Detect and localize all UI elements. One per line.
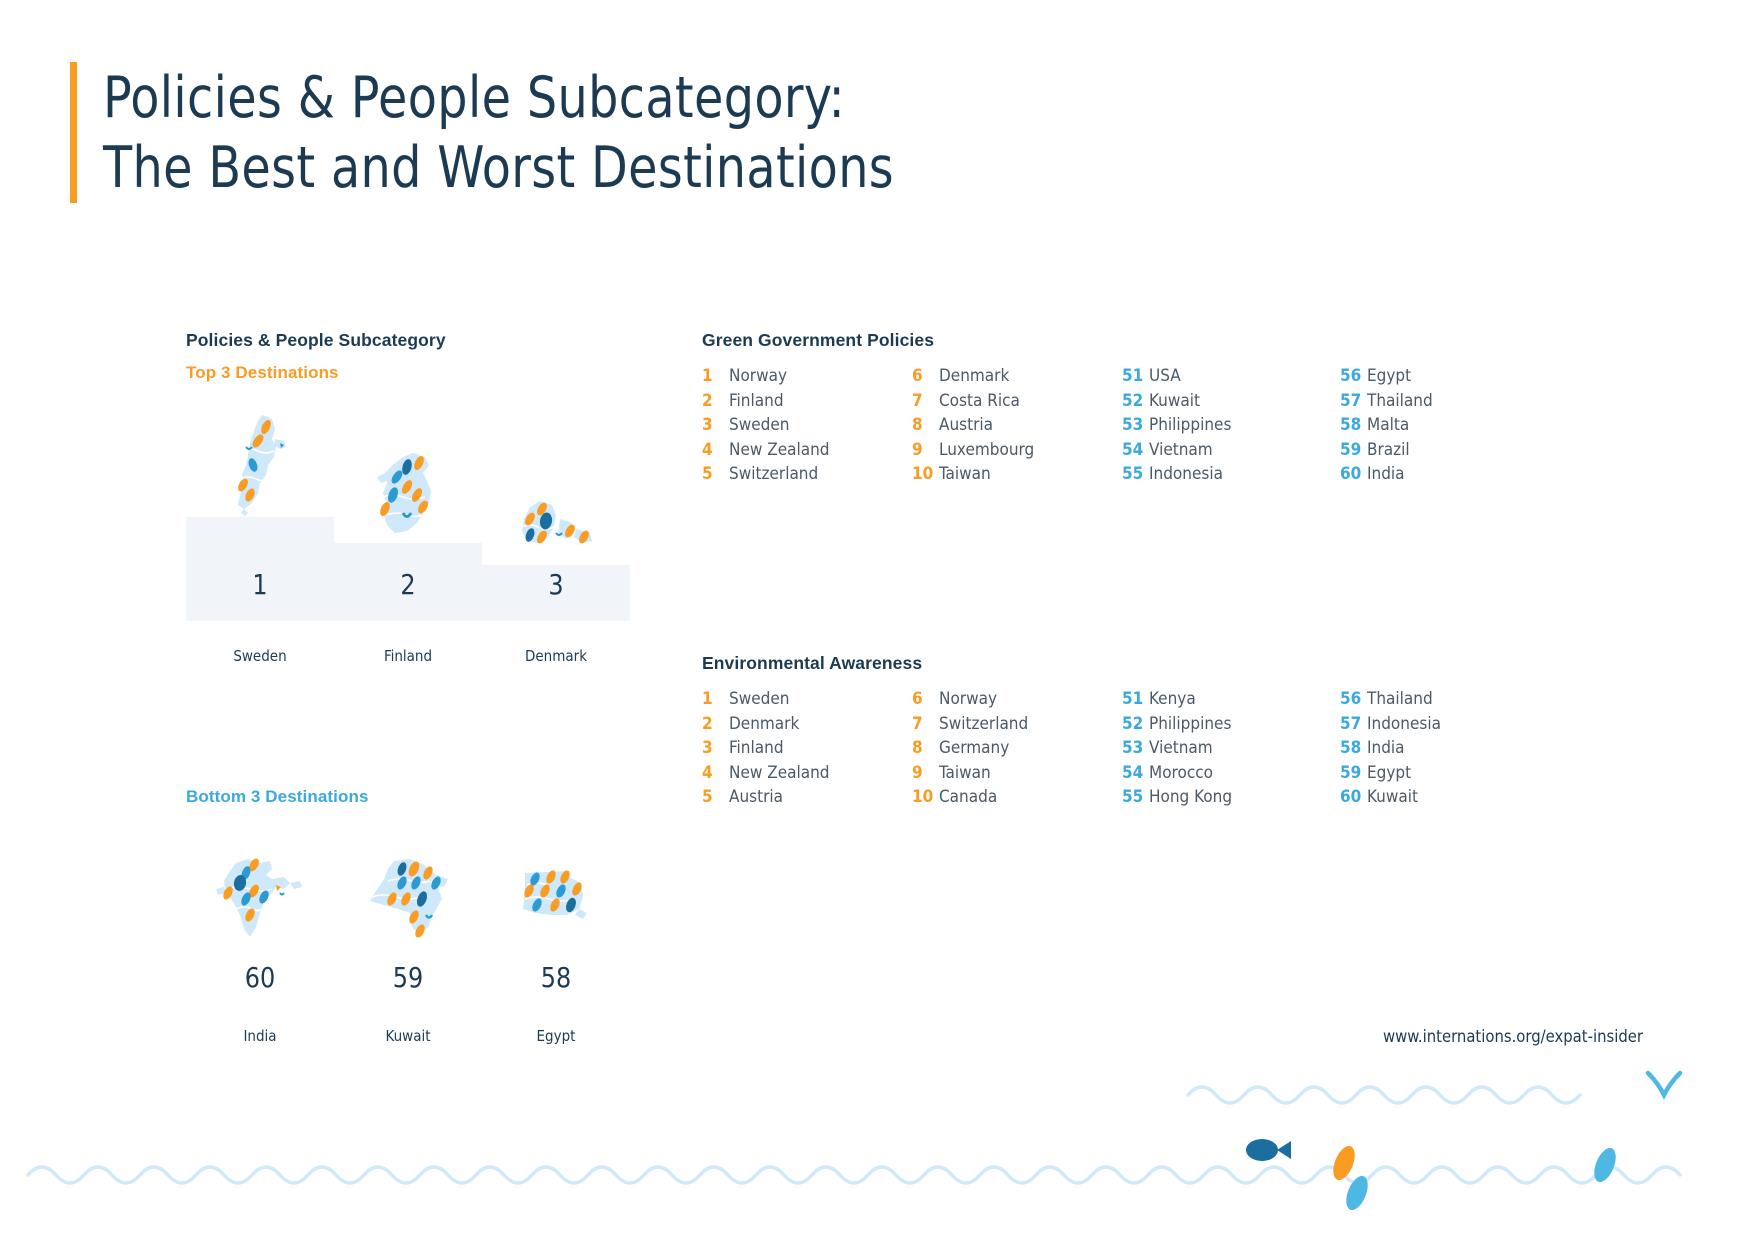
- bottom-country-2: Kuwait: [334, 1027, 482, 1045]
- rank-row: 59Brazil: [1340, 440, 1550, 465]
- rank-row: 5Switzerland: [702, 464, 912, 489]
- rank-number: 5: [702, 787, 729, 807]
- rank-row: 10Taiwan: [912, 464, 1122, 489]
- rank-number: 55: [1122, 464, 1149, 484]
- rank-number: 58: [1340, 738, 1367, 758]
- rank-number: 6: [912, 366, 939, 386]
- kuwait-map-icon: [334, 849, 482, 949]
- rank-country: Denmark: [939, 366, 1009, 386]
- rank-number: 53: [1122, 738, 1149, 758]
- rank-country: India: [1367, 464, 1405, 484]
- podium-step-2: 2: [334, 543, 482, 621]
- india-map-icon: [186, 849, 334, 949]
- rank-country: Philippines: [1149, 415, 1231, 435]
- rank-number: 51: [1122, 689, 1149, 709]
- podium-rank-2: 2: [400, 568, 415, 621]
- rank-number: 10: [912, 787, 939, 807]
- rank-country: Denmark: [729, 714, 799, 734]
- rank-row: 2Finland: [702, 391, 912, 416]
- rank-row: 6Norway: [912, 689, 1122, 714]
- rank-country: New Zealand: [729, 763, 830, 783]
- rank-number: 5: [702, 464, 729, 484]
- rank-country: Austria: [939, 415, 993, 435]
- rank-country: Brazil: [1367, 440, 1410, 460]
- rank-number: 6: [912, 689, 939, 709]
- rank-row: 56Egypt: [1340, 366, 1550, 391]
- rank-row: 3Sweden: [702, 415, 912, 440]
- rank-country: Austria: [729, 787, 783, 807]
- podium-rank-1: 1: [252, 568, 267, 621]
- top-3-podium: 1 2 3 Sweden Finland Denmark: [186, 409, 636, 699]
- wave-line: [28, 1167, 1680, 1183]
- ranking-column-bottom-b: 56Egypt 57Thailand 58Malta 59Brazil 60In…: [1340, 366, 1550, 489]
- rank-number: 57: [1340, 714, 1367, 734]
- rank-country: Sweden: [729, 689, 789, 709]
- rank-country: Hong Kong: [1149, 787, 1232, 807]
- sweden-map-icon: [205, 405, 315, 517]
- rank-country: Philippines: [1149, 714, 1231, 734]
- rank-number: 3: [702, 415, 729, 435]
- rank-country: Indonesia: [1149, 464, 1223, 484]
- rank-row: 54Morocco: [1122, 763, 1340, 788]
- rank-row: 52Philippines: [1122, 714, 1340, 739]
- rank-row: 53Philippines: [1122, 415, 1340, 440]
- rank-country: Vietnam: [1149, 440, 1213, 460]
- rank-number: 60: [1340, 787, 1367, 807]
- rank-country: Indonesia: [1367, 714, 1441, 734]
- rank-number: 7: [912, 714, 939, 734]
- fish-icon: [1246, 1139, 1291, 1161]
- rank-country: Kenya: [1149, 689, 1196, 709]
- rank-country: Morocco: [1149, 763, 1213, 783]
- rank-country: Egypt: [1367, 763, 1411, 783]
- ranking-green-government-policies: Green Government Policies 1Norway 2Finla…: [702, 330, 1550, 489]
- rank-number: 7: [912, 391, 939, 411]
- rank-country: Thailand: [1367, 391, 1433, 411]
- subcategory-heading: Policies & People Subcategory: [186, 330, 656, 351]
- rank-number: 1: [702, 366, 729, 386]
- bottom-3-subheading: Bottom 3 Destinations: [186, 787, 656, 807]
- podium-rank-3: 3: [548, 568, 563, 621]
- footer-decoration: [0, 1055, 1754, 1240]
- rank-country: USA: [1149, 366, 1181, 386]
- rank-country: Taiwan: [939, 464, 991, 484]
- rank-country: India: [1367, 738, 1405, 758]
- rank-row: 10Canada: [912, 787, 1122, 812]
- rank-number: 60: [1340, 464, 1367, 484]
- rank-row: 5Austria: [702, 787, 912, 812]
- rank-country: New Zealand: [729, 440, 830, 460]
- ranking-column-bottom-a: 51USA 52Kuwait 53Philippines 54Vietnam 5…: [1122, 366, 1340, 489]
- rank-country: Sweden: [729, 415, 789, 435]
- bottom-rank-2: 59: [338, 961, 479, 994]
- bottom-rank-3: 58: [486, 961, 627, 994]
- bottom-country-3: Egypt: [482, 1027, 630, 1045]
- infographic-page: Policies & People Subcategory: The Best …: [0, 0, 1754, 1240]
- rank-number: 9: [912, 763, 939, 783]
- rank-country: Finland: [729, 391, 784, 411]
- podium-country-3: Denmark: [482, 647, 630, 665]
- page-title-line-2: The Best and Worst Destinations: [103, 134, 894, 204]
- ranking-column-top-a: 1Sweden 2Denmark 3Finland 4New Zealand 5…: [702, 689, 912, 812]
- rank-number: 4: [702, 763, 729, 783]
- rank-country: Vietnam: [1149, 738, 1213, 758]
- egypt-map-icon: [482, 849, 630, 949]
- rank-number: 52: [1122, 714, 1149, 734]
- rank-number: 57: [1340, 391, 1367, 411]
- rank-number: 52: [1122, 391, 1149, 411]
- rank-country: Thailand: [1367, 689, 1433, 709]
- rank-number: 56: [1340, 366, 1367, 386]
- rank-row: 56Thailand: [1340, 689, 1550, 714]
- ranking-column-bottom-b: 56Thailand 57Indonesia 58India 59Egypt 6…: [1340, 689, 1550, 812]
- ranking-column-bottom-a: 51Kenya 52Philippines 53Vietnam 54Morocc…: [1122, 689, 1340, 812]
- rank-country: Malta: [1367, 415, 1409, 435]
- rank-row: 51USA: [1122, 366, 1340, 391]
- rank-row: 8Austria: [912, 415, 1122, 440]
- rank-number: 59: [1340, 440, 1367, 460]
- rank-row: 57Thailand: [1340, 391, 1550, 416]
- rank-number: 56: [1340, 689, 1367, 709]
- rank-row: 1Norway: [702, 366, 912, 391]
- rank-number: 2: [702, 391, 729, 411]
- rank-row: 7Switzerland: [912, 714, 1122, 739]
- rank-row: 59Egypt: [1340, 763, 1550, 788]
- podium-country-2: Finland: [334, 647, 482, 665]
- rank-country: Taiwan: [939, 763, 991, 783]
- bottom-country-1: India: [186, 1027, 334, 1045]
- ranking-column-top-a: 1Norway 2Finland 3Sweden 4New Zealand 5S…: [702, 366, 912, 489]
- rank-number: 2: [702, 714, 729, 734]
- rank-row: 3Finland: [702, 738, 912, 763]
- rank-number: 8: [912, 738, 939, 758]
- rank-row: 7Costa Rica: [912, 391, 1122, 416]
- bird-icon: [1648, 1073, 1680, 1095]
- rank-number: 4: [702, 440, 729, 460]
- ranking-title-green: Green Government Policies: [702, 330, 1550, 351]
- title-accent-bar: [70, 62, 77, 203]
- rank-country: Egypt: [1367, 366, 1411, 386]
- footer-url[interactable]: www.internations.org/expat-insider: [1383, 1027, 1643, 1046]
- rank-row: 60Kuwait: [1340, 787, 1550, 812]
- bottom-rank-1: 60: [190, 961, 331, 994]
- left-panel: Policies & People Subcategory Top 3 Dest…: [186, 330, 656, 1079]
- rank-number: 59: [1340, 763, 1367, 783]
- leaf-icon: [1329, 1143, 1359, 1183]
- rank-country: Norway: [729, 366, 787, 386]
- rank-country: Norway: [939, 689, 997, 709]
- rank-number: 9: [912, 440, 939, 460]
- rank-number: 10: [912, 464, 939, 484]
- rank-row: 1Sweden: [702, 689, 912, 714]
- ranking-column-top-b: 6Denmark 7Costa Rica 8Austria 9Luxembour…: [912, 366, 1122, 489]
- rank-number: 54: [1122, 763, 1149, 783]
- rank-row: 6Denmark: [912, 366, 1122, 391]
- rank-country: Switzerland: [939, 714, 1028, 734]
- rank-row: 4New Zealand: [702, 440, 912, 465]
- rank-row: 51Kenya: [1122, 689, 1340, 714]
- page-title-line-1: Policies & People Subcategory:: [103, 64, 894, 134]
- rank-number: 54: [1122, 440, 1149, 460]
- rank-row: 52Kuwait: [1122, 391, 1340, 416]
- rank-row: 8Germany: [912, 738, 1122, 763]
- page-title: Policies & People Subcategory: The Best …: [70, 62, 954, 203]
- rank-number: 3: [702, 738, 729, 758]
- ranking-column-top-b: 6Norway 7Switzerland 8Germany 9Taiwan 10…: [912, 689, 1122, 812]
- top-3-subheading: Top 3 Destinations: [186, 363, 656, 383]
- rank-number: 53: [1122, 415, 1149, 435]
- rank-number: 58: [1340, 415, 1367, 435]
- rank-row: 53Vietnam: [1122, 738, 1340, 763]
- wave-line: [1188, 1087, 1580, 1103]
- ranking-title-enviro: Environmental Awareness: [702, 653, 1550, 674]
- finland-map-icon: [353, 431, 463, 543]
- rank-row: 58Malta: [1340, 415, 1550, 440]
- rank-number: 8: [912, 415, 939, 435]
- podium-step-3: 3: [482, 565, 630, 621]
- rank-row: 2Denmark: [702, 714, 912, 739]
- rank-row: 57Indonesia: [1340, 714, 1550, 739]
- rank-row: 60India: [1340, 464, 1550, 489]
- rank-country: Germany: [939, 738, 1009, 758]
- rank-country: Finland: [729, 738, 784, 758]
- rank-country: Costa Rica: [939, 391, 1020, 411]
- rank-country: Switzerland: [729, 464, 818, 484]
- rank-country: Canada: [939, 787, 997, 807]
- denmark-map-icon: [501, 453, 611, 565]
- podium-country-1: Sweden: [186, 647, 334, 665]
- rank-country: Kuwait: [1149, 391, 1200, 411]
- rank-country: Luxembourg: [939, 440, 1034, 460]
- rank-row: 55Indonesia: [1122, 464, 1340, 489]
- rank-number: 55: [1122, 787, 1149, 807]
- bottom-3-group: 60 59 58 India Kuwait Egypt: [186, 829, 636, 1079]
- ranking-environmental-awareness: Environmental Awareness 1Sweden 2Denmark…: [702, 653, 1550, 812]
- rank-row: 9Luxembourg: [912, 440, 1122, 465]
- rank-row: 4New Zealand: [702, 763, 912, 788]
- rank-number: 1: [702, 689, 729, 709]
- rank-row: 58India: [1340, 738, 1550, 763]
- rank-row: 54Vietnam: [1122, 440, 1340, 465]
- rank-number: 51: [1122, 366, 1149, 386]
- podium-step-1: 1: [186, 517, 334, 621]
- rank-country: Kuwait: [1367, 787, 1418, 807]
- rank-row: 55Hong Kong: [1122, 787, 1340, 812]
- rank-row: 9Taiwan: [912, 763, 1122, 788]
